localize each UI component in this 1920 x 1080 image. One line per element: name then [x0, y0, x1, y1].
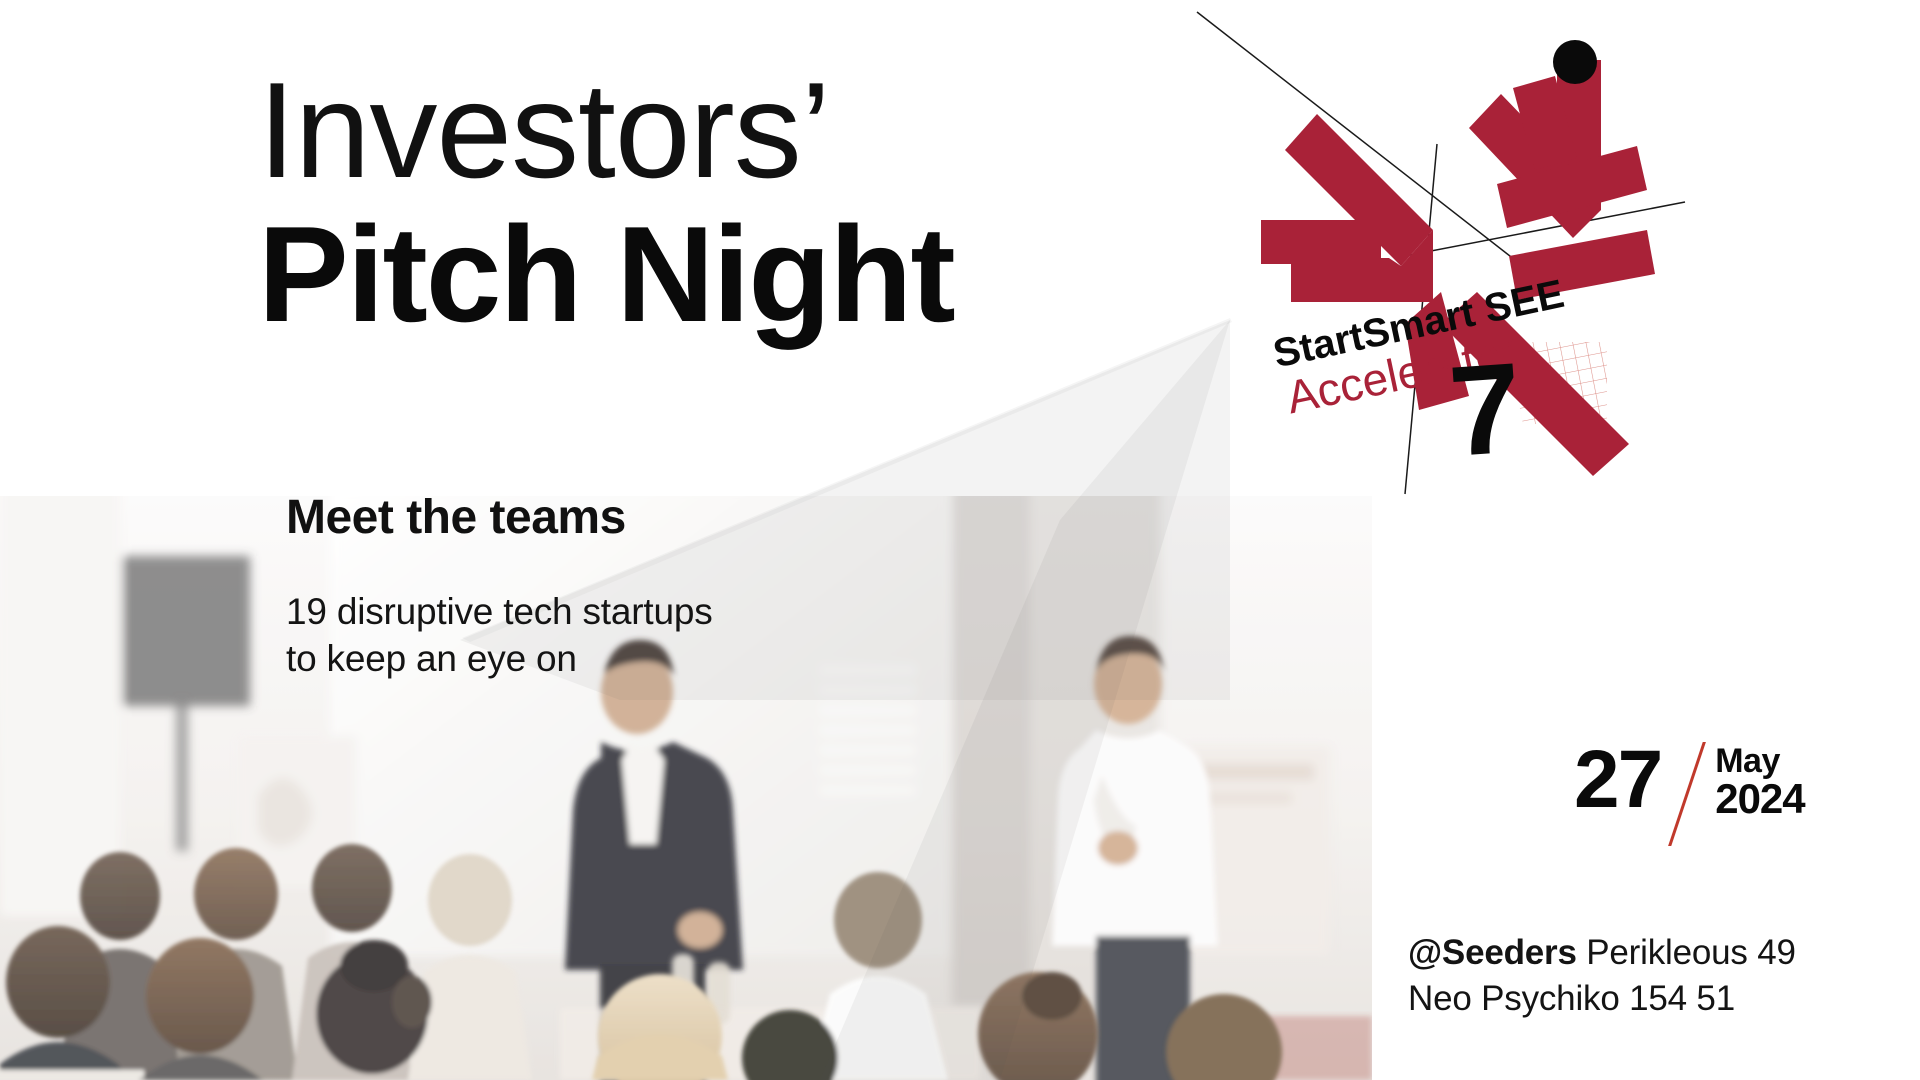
venue-address: @Seeders Perikleous 49 Neo Psychiko 154 … — [1408, 930, 1796, 1021]
date-year: 2024 — [1715, 778, 1804, 821]
event-date: 27 May 2024 — [1574, 742, 1805, 846]
event-photo — [0, 496, 1372, 1080]
headline-line-1: Investors’ — [258, 62, 1118, 198]
conference-photo-illustration — [0, 496, 1372, 1080]
headline-line-2: Pitch Night — [258, 198, 1118, 350]
logo-mark: StartSmart SEE Accelerator 7 — [1255, 24, 1685, 494]
dot-icon — [1553, 40, 1597, 84]
venue-street: Perikleous 49 — [1577, 933, 1796, 972]
date-month: May — [1715, 744, 1804, 778]
venue-name: @Seeders — [1408, 933, 1577, 972]
blurb: 19 disruptive tech startups to keep an e… — [286, 588, 713, 683]
startsmart-see-accelerator-logo: StartSmart SEE Accelerator 7 — [1255, 24, 1685, 494]
blurb-line-2: to keep an eye on — [286, 635, 713, 682]
headline: Investors’ Pitch Night — [258, 62, 1118, 350]
date-day: 27 — [1574, 742, 1661, 817]
cohort-number: 7 — [1445, 336, 1526, 484]
date-slash-icon — [1661, 742, 1715, 846]
date-month-year: May 2024 — [1715, 742, 1804, 821]
blurb-line-1: 19 disruptive tech startups — [286, 588, 713, 635]
venue-line-1: @Seeders Perikleous 49 — [1408, 930, 1796, 976]
date-separator — [1661, 742, 1715, 846]
subheading: Meet the teams — [286, 490, 626, 545]
venue-line-2: Neo Psychiko 154 51 — [1408, 976, 1796, 1022]
